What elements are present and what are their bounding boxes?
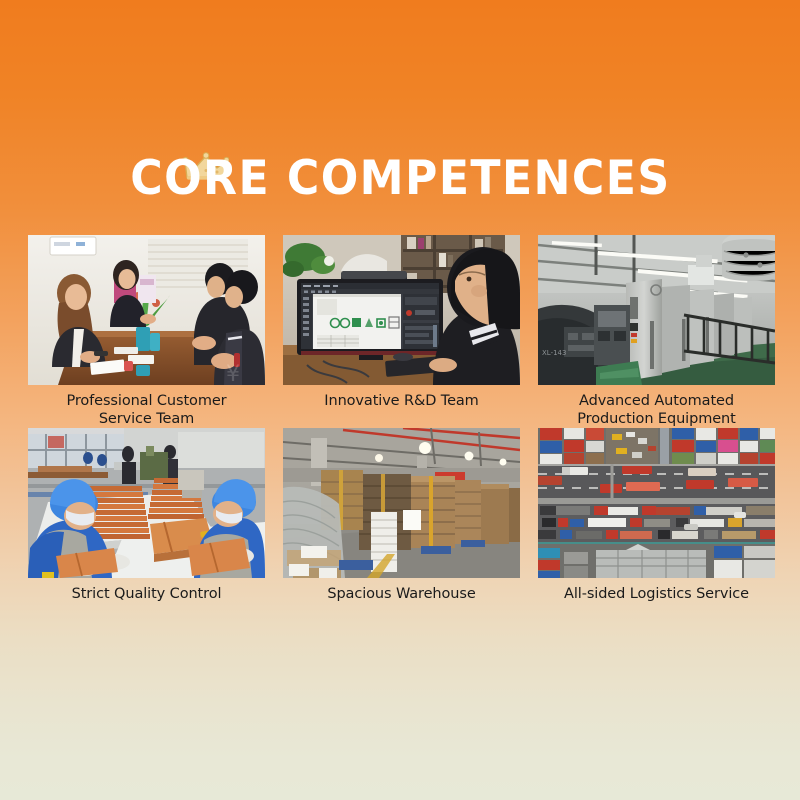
tile-caption: Advanced Automated Production Equipment [538,392,775,428]
caption-line-2: Production Equipment [538,410,775,428]
caption-line-2: Service Team [28,410,265,428]
competence-tile-innovative-rd-team[interactable]: Innovative R&D Team [283,235,520,410]
svg-text:¥: ¥ [226,362,240,385]
tile-caption: All-sided Logistics Service [538,585,775,603]
tile-caption: Strict Quality Control [28,585,265,603]
svg-text:XL-143: XL-143 [542,349,566,357]
competence-tile-advanced-automated-production-equipment[interactable]: XL-143 [538,235,775,428]
competence-tile-professional-customer-service-team[interactable]: ¥ Professional Customer Service Team [28,235,265,428]
caption-line-1: Professional Customer [66,393,226,409]
competence-tile-strict-quality-control[interactable]: Strict Quality Control [28,428,265,603]
meeting-room-photo: ¥ [28,235,265,385]
tile-caption: Professional Customer Service Team [28,392,265,428]
printing-press-machinery-photo: XL-143 [538,235,775,385]
quality-inspection-workers-photo [28,428,265,578]
caption-line-1: All-sided Logistics Service [564,586,749,602]
designer-at-monitor-photo [283,235,520,385]
caption-line-1: Strict Quality Control [72,586,222,602]
caption-line-1: Spacious Warehouse [327,586,475,602]
tile-caption: Innovative R&D Team [283,392,520,410]
competence-tile-spacious-warehouse[interactable]: Spacious Warehouse [283,428,520,603]
tile-caption: Spacious Warehouse [283,585,520,603]
aerial-container-port-photo [538,428,775,578]
caption-line-1: Advanced Automated [579,393,734,409]
warehouse-pallets-photo [283,428,520,578]
caption-line-1: Innovative R&D Team [324,393,478,409]
core-competences-banner: CORE COMPETENCES [0,0,800,800]
competence-tile-all-sided-logistics-service[interactable]: All-sided Logistics Service [538,428,775,603]
grid-row: Strict Quality Control [28,428,776,621]
grid-row: ¥ Professional Customer Service Team [28,235,776,428]
competence-grid: ¥ Professional Customer Service Team [28,235,776,621]
page-title: CORE COMPETENCES [130,150,670,208]
banner-header: CORE COMPETENCES [0,150,800,208]
